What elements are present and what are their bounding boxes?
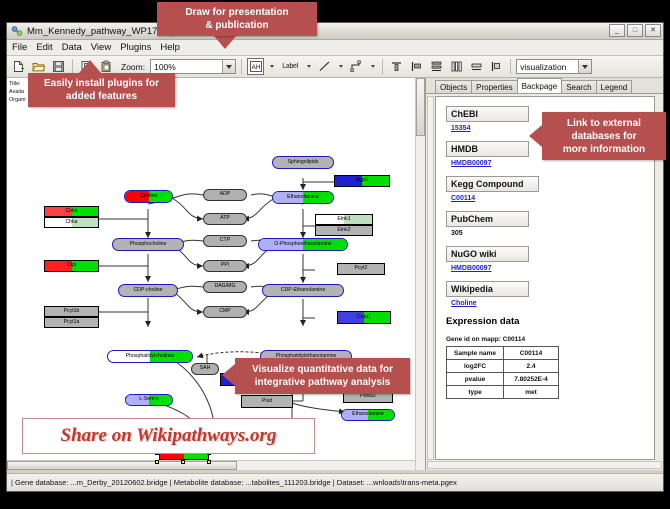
- node-label: Chka: [65, 220, 77, 225]
- node-label: Pisd: [262, 399, 272, 404]
- node-label: Pcyt1b: [64, 309, 80, 314]
- node-label: Chkb: [65, 209, 77, 214]
- gene-node-etnk1[interactable]: Etnk1: [315, 214, 373, 225]
- db-link-hmdb[interactable]: HMDB00097: [451, 160, 654, 167]
- callout-visualize-line1: Visualize quantitative data for: [252, 363, 393, 376]
- toolbar-separator: [510, 59, 511, 74]
- callout-links: Link to external databases for more info…: [542, 112, 666, 160]
- visualization-value: visualization: [520, 62, 566, 72]
- line-dropdown-icon[interactable]: [336, 58, 345, 75]
- tab-backpage[interactable]: Backpage: [517, 78, 563, 93]
- label-tool-icon[interactable]: Label: [279, 58, 301, 75]
- zoom-label: Zoom:: [121, 62, 145, 72]
- node-label: ATP: [220, 216, 230, 221]
- menu-edit[interactable]: Edit: [36, 42, 52, 53]
- text-label-icon[interactable]: AH: [247, 58, 264, 75]
- node-label: Pcyt2: [355, 266, 368, 271]
- screen-root: Mm_Kennedy_pathway_WP1771_45176.gpml _ □…: [0, 0, 670, 509]
- gene-node-etnk2[interactable]: Etnk2: [315, 225, 373, 236]
- metabolite-node-ethanolamine-right[interactable]: Ethanolamine: [341, 409, 395, 421]
- canvas-vertical-scrollbar[interactable]: [415, 78, 425, 470]
- scroll-thumb[interactable]: [416, 78, 425, 136]
- share-banner-text: Share on Wikipathways.org: [61, 425, 277, 447]
- node-label: SAH: [200, 366, 211, 371]
- node-label: CDP-choline: [133, 288, 162, 293]
- zoom-value: 100%: [154, 62, 176, 72]
- gene-node-ctpl[interactable]: Ctpl: [44, 260, 99, 272]
- node-label: Pcyt1a: [64, 320, 80, 325]
- callout-draw-arrow: [214, 36, 236, 49]
- callout-plugins: Easily install plugins for added feature…: [28, 73, 175, 107]
- node-label: CTP: [220, 238, 230, 243]
- pathway-canvas[interactable]: Title: Availa Organi: [7, 78, 426, 470]
- cofactor-node-adp[interactable]: ADP: [203, 189, 247, 201]
- visualization-combo[interactable]: visualization: [516, 59, 592, 74]
- line-tool-icon[interactable]: [316, 58, 333, 75]
- distribute-vertical-icon[interactable]: [428, 58, 445, 75]
- callout-links-arrow: [529, 125, 542, 147]
- table-row: pvalue 7.80252E-4: [447, 373, 559, 386]
- metabolite-node-o-phosphoethanolamine[interactable]: O-Phosphoethanolamine: [258, 238, 348, 251]
- node-label: PPi: [221, 263, 229, 268]
- status-bar: | Gene database: ...m_Derby_20120602.bri…: [7, 473, 663, 491]
- node-label: Sgpl1: [355, 178, 368, 183]
- node-label: Ctpl: [67, 263, 76, 268]
- menu-file[interactable]: File: [12, 42, 27, 53]
- db-header-kegg-compound: Kegg Compound: [446, 176, 539, 192]
- expression-table: Sample name C00114 log2FC 2.4 pvalue 7.8…: [446, 346, 559, 399]
- table-row: Sample name C00114: [447, 347, 559, 360]
- tab-legend[interactable]: Legend: [596, 80, 633, 93]
- chevron-down-icon[interactable]: [578, 60, 591, 73]
- same-height-icon[interactable]: [488, 58, 505, 75]
- metabolite-node-sphingolipids[interactable]: Sphingolipids: [272, 156, 334, 169]
- cofactor-node-ppi[interactable]: PPi: [203, 260, 247, 272]
- node-label: Ethanolamine: [287, 195, 319, 200]
- panel-horizontal-scrollbar[interactable]: [427, 461, 662, 469]
- node-label: Phosphocholine: [130, 242, 167, 247]
- node-label: Etnk1: [337, 217, 350, 222]
- toolbar-separator: [72, 59, 73, 74]
- status-text: | Gene database: ...m_Derby_20120602.bri…: [11, 478, 457, 487]
- gene-node-chka[interactable]: Chka: [44, 217, 99, 228]
- close-button[interactable]: ✕: [645, 24, 661, 37]
- metabolite-node-ethanolamine[interactable]: Ethanolamine: [272, 191, 334, 204]
- expr-key-sample-name: Sample name: [447, 347, 504, 360]
- callout-draw: Draw for presentation & publication: [157, 2, 317, 36]
- db-link-kegg-compound[interactable]: C00114: [451, 195, 654, 202]
- gene-node-pcyt1a[interactable]: Pcyt1a: [44, 317, 99, 328]
- tab-properties[interactable]: Properties: [471, 80, 517, 93]
- connector-tool-icon[interactable]: [348, 58, 365, 75]
- share-banner: Share on Wikipathways.org: [22, 418, 315, 454]
- expr-key-type: type: [447, 386, 504, 399]
- canvas-horizontal-scrollbar[interactable]: [7, 460, 415, 470]
- node-label: O-Phosphoethanolamine: [274, 242, 331, 247]
- chevron-down-icon[interactable]: [222, 60, 235, 73]
- callout-draw-line2: & publication: [205, 19, 268, 32]
- expr-value-log2fc: 2.4: [504, 360, 559, 373]
- metabolite-node-phosphatidylcholines[interactable]: Phosphatidylcholines: [107, 350, 193, 363]
- tab-search[interactable]: Search: [561, 80, 596, 93]
- callout-links-line2: databases for: [571, 130, 636, 143]
- callout-links-line3: more information: [563, 143, 645, 156]
- gene-node-sgpl1[interactable]: Sgpl1: [334, 175, 390, 187]
- maximize-button[interactable]: □: [627, 24, 643, 37]
- node-label: Cept1: [357, 315, 371, 320]
- title-bar: Mm_Kennedy_pathway_WP1771_45176.gpml _ □…: [7, 23, 663, 40]
- gene-node-pcyt1b[interactable]: Pcyt1b: [44, 306, 99, 317]
- expr-key-pvalue: pvalue: [447, 373, 504, 386]
- node-label: CMP: [219, 309, 231, 314]
- metabolite-node-cdp-ethanolamine[interactable]: CDP-Ethanolamine: [262, 284, 344, 297]
- pathvisio-icon: [11, 25, 23, 37]
- new-file-icon[interactable]: [10, 58, 27, 75]
- side-panel-tabs: Objects Properties Backpage Search Legen…: [426, 78, 663, 94]
- db-header-nugo-wiki: NuGO wiki: [446, 246, 529, 262]
- gene-node-pisd[interactable]: Pisd: [241, 395, 293, 408]
- callout-visualize-line2: integrative pathway analysis: [255, 376, 391, 389]
- minimize-button[interactable]: _: [609, 24, 625, 37]
- toolbar-separator: [382, 59, 383, 74]
- selection-handle[interactable]: [155, 460, 159, 464]
- text-label-dropdown-icon[interactable]: [267, 58, 276, 75]
- distribute-horizontal-icon[interactable]: [448, 58, 465, 75]
- expression-data-heading: Expression data: [446, 316, 654, 327]
- svg-text:AH: AH: [251, 64, 260, 71]
- panel-vertical-scrollbar[interactable]: [427, 96, 434, 460]
- expr-value-pvalue: 7.80252E-4: [504, 373, 559, 386]
- metabolite-node-phosphocholine[interactable]: Phosphocholine: [112, 238, 184, 251]
- menu-view[interactable]: View: [91, 42, 111, 53]
- metabolite-node-l-serine-left[interactable]: L-Serine: [125, 394, 173, 406]
- menu-data[interactable]: Data: [62, 42, 82, 53]
- align-top-icon[interactable]: [388, 58, 405, 75]
- node-label: CDP-Ethanolamine: [281, 288, 325, 293]
- label-dropdown-icon[interactable]: [304, 58, 313, 75]
- menu-help[interactable]: Help: [160, 42, 180, 53]
- node-label: DAG/MG: [214, 284, 235, 289]
- metabolite-node-cdp-choline[interactable]: CDP-choline: [118, 284, 178, 297]
- zoom-combo[interactable]: 100%: [150, 59, 236, 74]
- db-value-pubchem: 305: [451, 230, 654, 237]
- expr-key-log2fc: log2FC: [447, 360, 504, 373]
- expr-value-sample-name: C00114: [504, 347, 559, 360]
- gene-node-cept1[interactable]: Cept1: [337, 311, 391, 324]
- gene-node-pcyt2[interactable]: Pcyt2: [337, 263, 385, 275]
- db-link-nugo-wiki[interactable]: HMDB00097: [451, 265, 654, 272]
- scroll-thumb[interactable]: [7, 461, 237, 470]
- window-controls: _ □ ✕: [609, 24, 661, 37]
- cofactor-node-atp[interactable]: ATP: [203, 213, 247, 225]
- node-label: ADP: [220, 192, 231, 197]
- align-left-icon[interactable]: [408, 58, 425, 75]
- connector-dropdown-icon[interactable]: [368, 58, 377, 75]
- db-header-wikipedia: Wikipedia: [446, 281, 529, 297]
- selection-handle[interactable]: [181, 460, 185, 464]
- toolbar-separator: [241, 59, 242, 74]
- node-label: Etnk2: [337, 228, 350, 233]
- tab-objects[interactable]: Objects: [435, 80, 472, 93]
- node-label: Phosphatidylcholines: [126, 354, 175, 359]
- cofactor-node-ctp[interactable]: CTP: [203, 235, 247, 247]
- callout-plugins-line2: added features: [66, 90, 137, 103]
- callout-visualize: Visualize quantitative data for integrat…: [235, 358, 410, 394]
- table-row: type met: [447, 386, 559, 399]
- callout-visualize-arrow: [222, 364, 235, 386]
- callout-plugins-arrow: [79, 60, 101, 73]
- label-tool-text: Label: [282, 63, 298, 70]
- table-row: log2FC 2.4: [447, 360, 559, 373]
- cofactor-node-cmp[interactable]: CMP: [203, 306, 247, 318]
- same-width-icon[interactable]: [468, 58, 485, 75]
- callout-links-line1: Link to external: [567, 117, 641, 130]
- selection-handle[interactable]: [207, 460, 211, 464]
- db-header-chebi: ChEBI: [446, 106, 529, 122]
- node-label: L-Serine: [139, 397, 159, 402]
- db-link-wikipedia[interactable]: Choline: [451, 300, 654, 307]
- cofactor-node-sah[interactable]: SAH: [191, 363, 219, 375]
- gene-id-line: Gene id on mapp: C00114: [446, 336, 654, 343]
- cofactor-node-dag-mg[interactable]: DAG/MG: [203, 281, 247, 293]
- db-header-hmdb: HMDB: [446, 141, 529, 157]
- expr-value-type: met: [504, 386, 559, 399]
- metabolite-node-choline-top[interactable]: Choline: [124, 190, 173, 203]
- db-header-pubchem: PubChem: [446, 211, 529, 227]
- node-label: Ethanolamine: [352, 412, 384, 417]
- menu-plugins[interactable]: Plugins: [120, 42, 151, 53]
- callout-plugins-line1: Easily install plugins for: [44, 77, 159, 90]
- node-label: Ptdss2: [360, 394, 376, 399]
- node-label: Sphingolipids: [288, 160, 319, 165]
- gene-node-chkb[interactable]: Chkb: [44, 206, 99, 217]
- node-label: Choline: [140, 194, 158, 199]
- menu-bar: File Edit Data View Plugins Help: [7, 40, 663, 56]
- callout-draw-line1: Draw for presentation: [185, 6, 288, 19]
